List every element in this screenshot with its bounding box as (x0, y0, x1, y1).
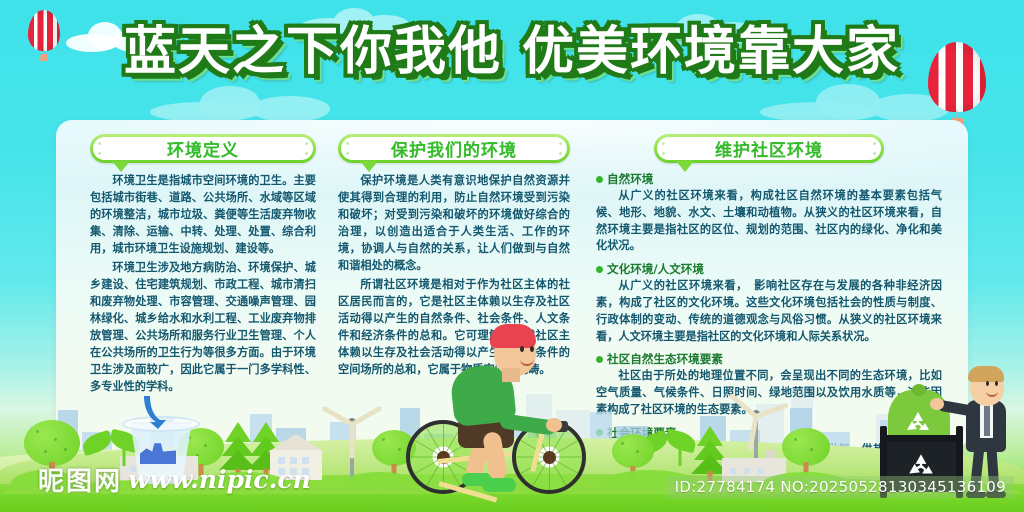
watermark-site-cn: 昵图网 (38, 461, 122, 498)
column-3-heading: 维护社区环境 (654, 134, 884, 163)
rider-hair (490, 324, 536, 348)
bubble-tail-icon (676, 161, 694, 172)
section-title: 文化环境/人文环境 (607, 261, 704, 277)
column-2-heading-label: 保护我们的环境 (391, 136, 517, 161)
man-tie (984, 406, 990, 436)
recycle-symbol-icon (904, 410, 932, 436)
cloud-4 (150, 86, 330, 122)
image-id-tag: ID:27784174 NO:20250528130345136109 (667, 476, 1014, 498)
paragraph: 保护环境是人类有意识地保护自然资源并使其得到合理的利用，防止自然环境受到污染和破… (338, 172, 570, 274)
man-hair (968, 366, 1004, 382)
bubble-tail-icon (360, 161, 378, 172)
paragraph: 环境卫生是指城市空间环境的卫生。主要包括城市街巷、道路、公共场所、水域等区域的环… (90, 172, 316, 257)
watermark: 昵图网 www.nipic.cn (38, 461, 311, 498)
rider-hand (546, 418, 562, 432)
cyclist-illustration (404, 316, 584, 494)
man-eye (986, 381, 989, 386)
column-1-body: 环境卫生是指城市空间环境的卫生。主要包括城市街巷、道路、公共场所、水域等区域的环… (90, 172, 316, 395)
bubble-tail-icon (112, 161, 130, 172)
section-text: 从广义的社区环境来看，构成社区自然环境的基本要素包括气候、地形、地貌、水文、土壤… (596, 188, 942, 255)
section-title: 社区自然生态环境要素 (607, 351, 723, 367)
watermark-site-url: www.nipic.cn (128, 465, 311, 494)
column-environment-definition: 环境定义 环境卫生是指城市空间环境的卫生。主要包括城市街巷、道路、公共场所、水域… (90, 134, 316, 397)
bullet-icon (596, 176, 603, 183)
section-natural-environment: 自然环境 从广义的社区环境来看，构成社区自然环境的基本要素包括气候、地形、地貌、… (596, 171, 942, 255)
column-1-heading-label: 环境定义 (167, 136, 239, 161)
poster-canvas: 蓝天之下你我他 优美环境靠大家 环境定义 环境卫生是指城市空间环境的卫生。主要包… (0, 0, 1024, 512)
section-text: 从广义的社区环境来看， 影响社区存在与发展的各种非经济因素，构成了社区的文化环境… (596, 278, 942, 345)
rider-shoe-front (482, 478, 516, 492)
wind-turbine-icon (332, 418, 372, 480)
page-title: 蓝天之下你我他 优美环境靠大家 (0, 24, 1024, 80)
bullet-icon (596, 356, 603, 363)
bullet-icon (596, 266, 603, 273)
column-2-heading: 保护我们的环境 (338, 134, 570, 163)
rider-eye (520, 346, 524, 352)
column-3-heading-label: 维护社区环境 (715, 136, 823, 161)
rider-eye (530, 346, 534, 352)
trash-bin-rim (882, 435, 962, 442)
section-title: 自然环境 (607, 171, 653, 187)
recycling-bag-knot (912, 384, 926, 396)
man-eye (995, 381, 998, 386)
column-1-heading: 环境定义 (90, 134, 316, 163)
cloud-5 (760, 84, 950, 122)
paragraph: 环境卫生涉及地方病防治、环境保护、城乡建设、住宅建筑规划、市政工程、城市清扫和废… (90, 259, 316, 395)
man-hand (930, 398, 944, 410)
section-cultural-environment: 文化环境/人文环境 从广义的社区环境来看， 影响社区存在与发展的各种非经济因素，… (596, 261, 942, 345)
rider-neck (502, 368, 520, 382)
